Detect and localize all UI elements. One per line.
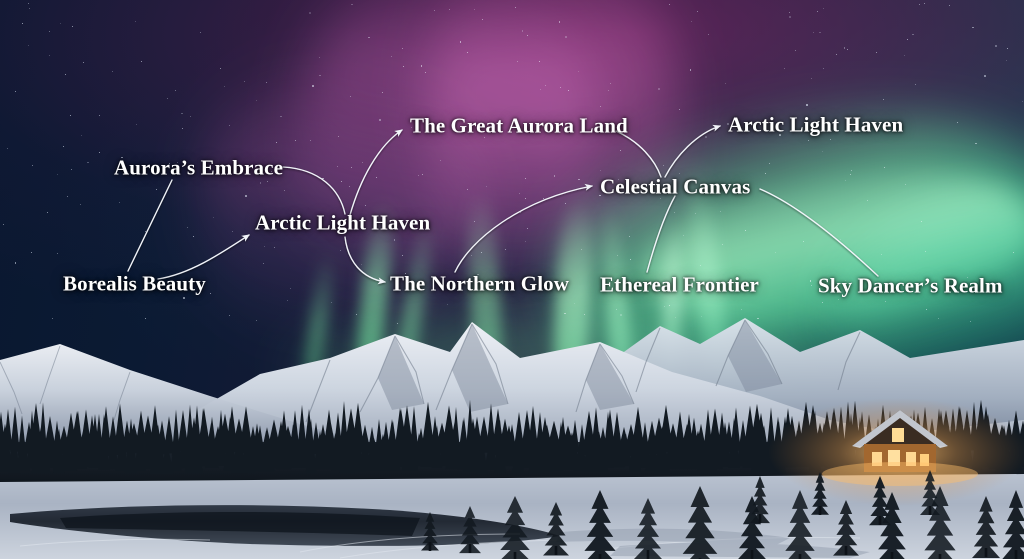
node-label-arctic-light-haven-2[interactable]: Arctic Light Haven xyxy=(728,113,903,138)
connector-e5 xyxy=(345,237,385,282)
node-label-ethereal-frontier[interactable]: Ethereal Frontier xyxy=(600,273,759,298)
node-label-sky-dancers-realm[interactable]: Sky Dancer’s Realm xyxy=(818,274,1003,299)
connector-e6 xyxy=(455,186,592,272)
aurora-scene: Borealis BeautyAurora’s EmbraceArctic Li… xyxy=(0,0,1024,559)
node-label-celestial-canvas[interactable]: Celestial Canvas xyxy=(600,175,750,200)
node-label-auroras-embrace[interactable]: Aurora’s Embrace xyxy=(114,156,283,181)
node-label-great-aurora-land[interactable]: The Great Aurora Land xyxy=(410,114,628,139)
connector-e9 xyxy=(647,196,675,272)
connector-e8 xyxy=(665,126,720,177)
connector-e10 xyxy=(760,189,878,276)
node-label-northern-glow[interactable]: The Northern Glow xyxy=(390,272,569,297)
connector-e3 xyxy=(283,167,345,214)
node-label-borealis-beauty[interactable]: Borealis Beauty xyxy=(63,272,206,297)
connector-e4 xyxy=(350,130,402,215)
node-label-arctic-light-haven-1[interactable]: Arctic Light Haven xyxy=(255,211,430,236)
connector-e1 xyxy=(128,180,172,271)
